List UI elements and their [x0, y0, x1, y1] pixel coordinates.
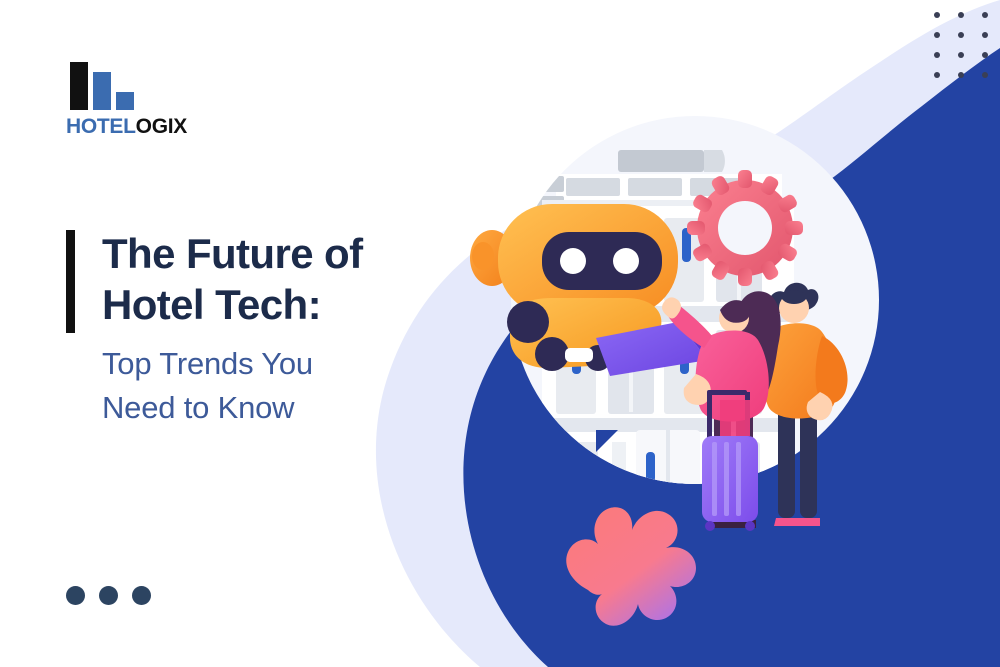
- page-subtitle-line-2: Need to Know: [102, 386, 363, 430]
- grid-dot: [982, 52, 988, 58]
- dot-row-decoration: [66, 586, 151, 605]
- headline-text: The Future of Hotel Tech: Top Trends You…: [102, 228, 363, 431]
- headline-accent-bar: [66, 230, 75, 333]
- logo-bars-icon: [70, 62, 187, 110]
- blog-banner: HOTELOGIX The Future of Hotel Tech: Top …: [0, 0, 1000, 667]
- logo-wordmark: HOTELOGIX: [66, 116, 187, 137]
- grid-dot: [958, 32, 964, 38]
- page-title: The Future of Hotel Tech:: [102, 228, 363, 330]
- grid-dot: [934, 52, 940, 58]
- grid-dot: [934, 12, 940, 18]
- logo-wordmark-second: OGIX: [136, 115, 187, 138]
- logo-wordmark-first: HOTEL: [66, 115, 136, 138]
- page-subtitle-line-1: Top Trends You: [102, 342, 363, 386]
- logo-bar-tall: [70, 62, 88, 110]
- grid-dot: [982, 12, 988, 18]
- hotel-tech-illustration: [360, 0, 1000, 667]
- grid-dot: [958, 52, 964, 58]
- row-dot: [132, 586, 151, 605]
- grid-dot: [958, 12, 964, 18]
- grid-dot: [934, 72, 940, 78]
- grid-dot: [934, 32, 940, 38]
- headline-block: The Future of Hotel Tech: Top Trends You…: [66, 228, 363, 431]
- grid-dot: [958, 72, 964, 78]
- grid-dot: [982, 32, 988, 38]
- hotelogix-logo[interactable]: HOTELOGIX: [66, 62, 187, 137]
- grid-dot: [982, 72, 988, 78]
- logo-bar-small: [116, 92, 134, 110]
- page-title-line-1: The Future of: [102, 228, 363, 279]
- page-title-line-2: Hotel Tech:: [102, 279, 363, 330]
- page-subtitle: Top Trends You Need to Know: [102, 342, 363, 430]
- dot-grid-decoration: [934, 12, 1000, 92]
- row-dot: [99, 586, 118, 605]
- row-dot: [66, 586, 85, 605]
- logo-bar-medium: [93, 72, 111, 110]
